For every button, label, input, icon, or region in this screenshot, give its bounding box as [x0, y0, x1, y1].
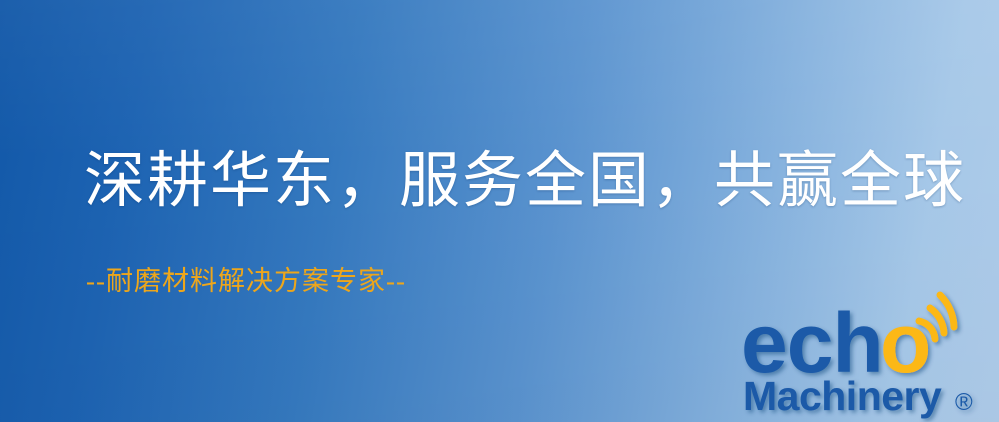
echo-machinery-logo[interactable]: ech o Machinery ®	[739, 288, 991, 420]
registered-trademark-icon: ®	[955, 389, 973, 416]
banner-subtitle: --耐磨材料解决方案专家--	[86, 265, 406, 297]
hero-banner: 深耕华东，服务全国，共赢全球 --耐磨材料解决方案专家-- ech o	[0, 0, 999, 422]
banner-headline: 深耕华东，服务全国，共赢全球	[84, 148, 966, 215]
logo-text-machinery: Machinery	[743, 373, 942, 419]
